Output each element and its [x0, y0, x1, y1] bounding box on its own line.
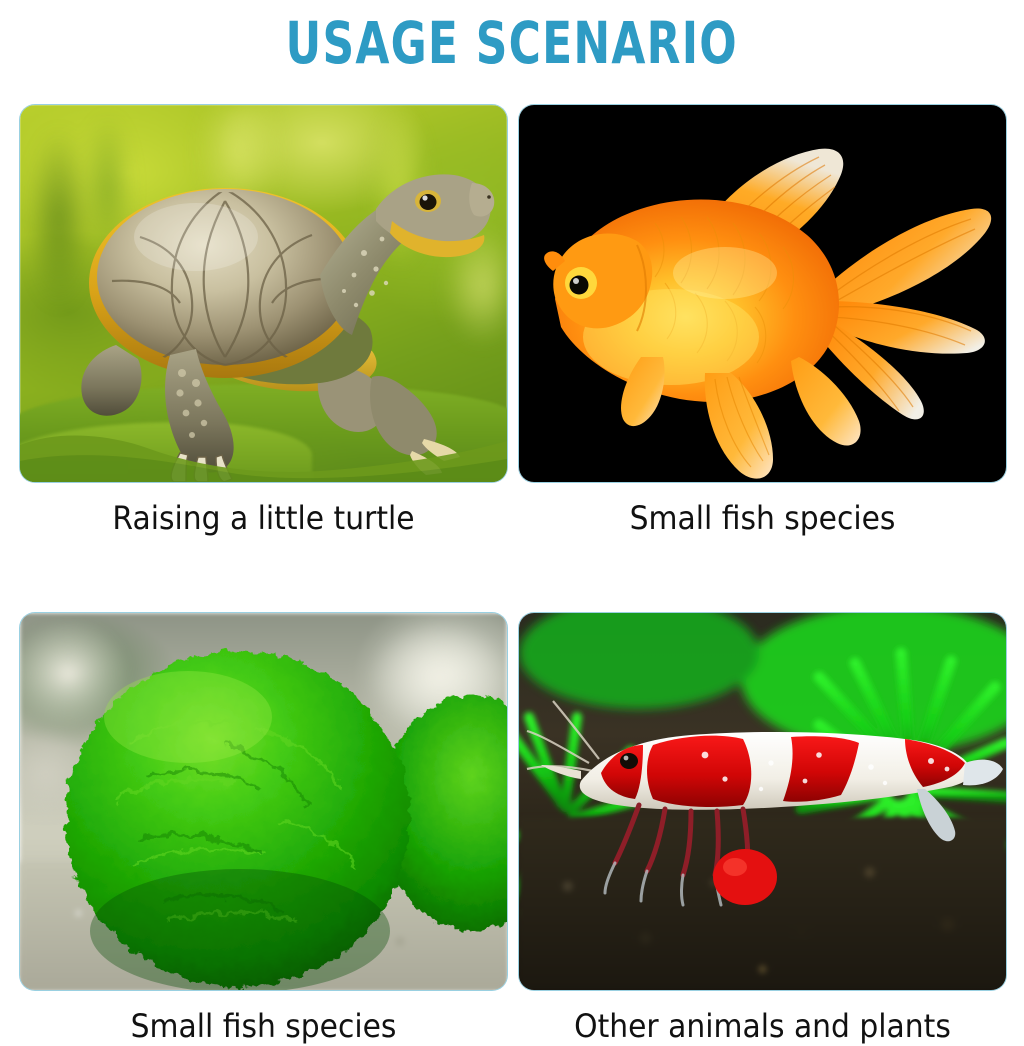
goldfish-scene	[519, 105, 1006, 482]
turtle-back-leg	[81, 345, 141, 416]
page-title-container: USAGE SCENARIO	[0, 14, 1024, 69]
scenario-image-shrimp[interactable]	[519, 613, 1006, 990]
caption-shrimp: Other animals and plants	[536, 1007, 989, 1045]
moss-ball-highlight	[104, 671, 272, 763]
moss-ball-scene	[20, 613, 507, 990]
page-title: USAGE SCENARIO	[286, 14, 738, 72]
shrimp-scene	[519, 613, 1006, 990]
shrimp-uropod	[917, 789, 955, 841]
caption-goldfish: Small fish species	[536, 499, 989, 537]
shrimp-red-band-1	[647, 736, 751, 807]
usage-scenario-page: USAGE SCENARIO	[0, 0, 1024, 1024]
goldfish-eye-pupil	[570, 276, 589, 295]
shrimp-eye	[620, 753, 638, 769]
shrimp-illustration	[519, 613, 1006, 990]
scenario-cell-goldfish: Small fish species	[519, 105, 1006, 537]
turtle-eye-glint	[422, 195, 427, 200]
turtle-snout	[469, 183, 494, 217]
scenario-cell-moss-ball: Small fish species	[20, 613, 507, 1045]
goldfish-eye-glint	[573, 278, 579, 284]
scenario-image-turtle[interactable]	[20, 105, 507, 482]
turtle-nostril	[487, 195, 491, 199]
caption-turtle: Raising a little turtle	[37, 499, 490, 537]
scenario-image-moss-ball[interactable]	[20, 613, 507, 990]
moss-ball-illustration	[20, 613, 507, 990]
shrimp-red-blob	[713, 849, 777, 905]
scenario-row-1: Raising a little turtle	[20, 105, 1006, 537]
scenario-image-goldfish[interactable]	[519, 105, 1006, 482]
turtle-scene	[20, 105, 507, 482]
scenario-grid: Raising a little turtle	[20, 105, 1006, 1046]
turtle-shell-highlight	[134, 203, 258, 271]
moss-ball-shadow	[90, 869, 390, 990]
shrimp-antennae	[527, 701, 599, 771]
caption-moss-ball: Small fish species	[37, 1007, 490, 1045]
turtle-eye	[420, 194, 437, 210]
shrimp-eye-glint	[624, 756, 629, 761]
goldfish-body-highlight	[673, 247, 777, 299]
turtle-illustration	[20, 105, 507, 482]
goldfish-tail-upper	[819, 209, 991, 313]
scenario-cell-shrimp: Other animals and plants	[519, 613, 1006, 1045]
scenario-row-2: Small fish species	[20, 613, 1006, 1045]
shrimp-red-blob-highlight	[723, 858, 747, 876]
goldfish-illustration	[519, 105, 1006, 482]
shrimp-tail-fan	[963, 760, 1003, 786]
scenario-cell-turtle: Raising a little turtle	[20, 105, 507, 537]
